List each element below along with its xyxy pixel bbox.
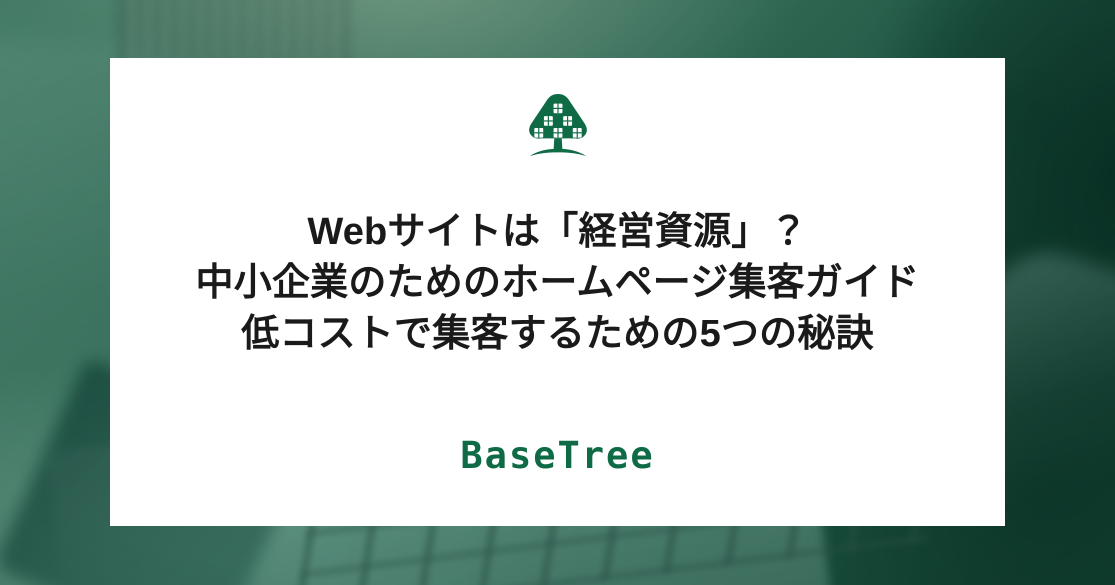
title-line-1: Webサイトは「経営資源」？ [110, 207, 1005, 258]
title-card: Webサイトは「経営資源」？ 中小企業のためのホームページ集客ガイド 低コストで… [110, 58, 1005, 526]
page-title: Webサイトは「経営資源」？ 中小企業のためのホームページ集客ガイド 低コストで… [110, 207, 1005, 360]
title-line-3: 低コストで集客するための5つの秘訣 [110, 309, 1005, 360]
brand-name: BaseTree [460, 434, 654, 477]
title-line-2: 中小企業のためのホームページ集客ガイド [110, 258, 1005, 309]
tree-with-windows-logo-icon [520, 91, 596, 165]
